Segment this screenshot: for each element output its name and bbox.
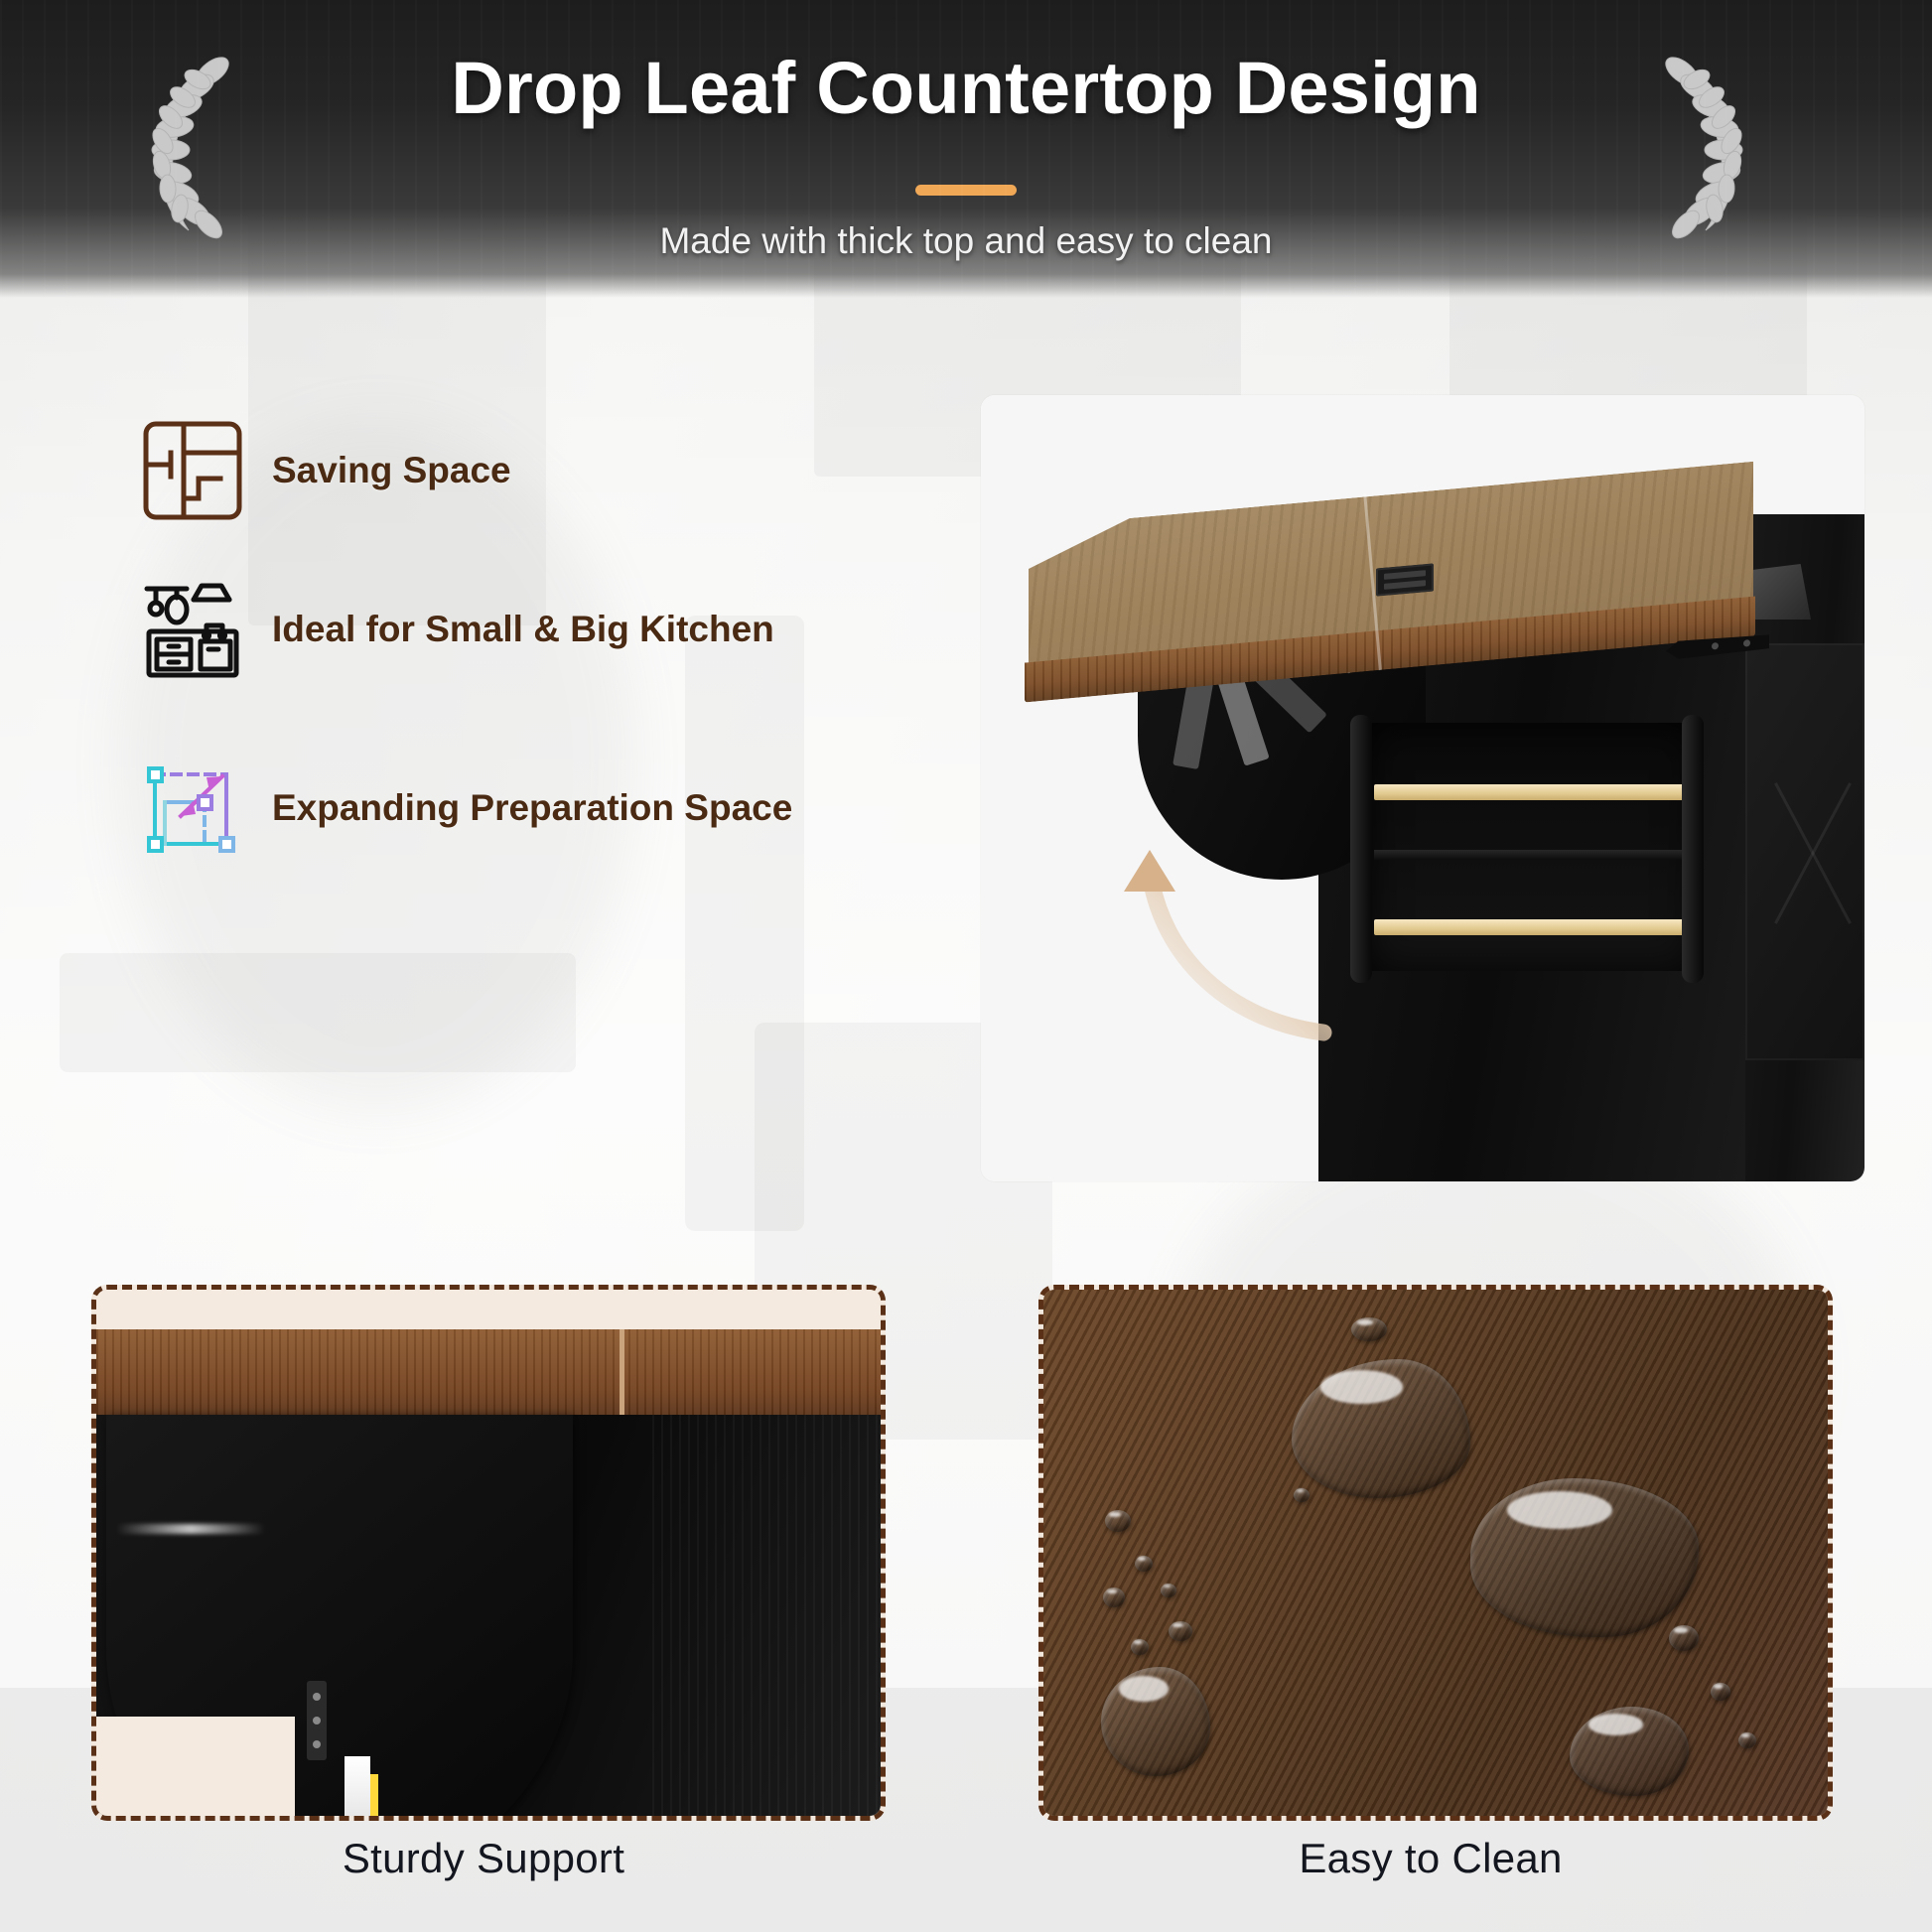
water-droplet-small bbox=[1135, 1556, 1153, 1572]
water-droplet-small bbox=[1105, 1510, 1131, 1532]
water-droplet-small bbox=[1161, 1584, 1176, 1597]
water-droplet-small bbox=[1738, 1732, 1756, 1748]
water-droplet-small bbox=[1169, 1621, 1192, 1641]
panel-caption: Easy to Clean bbox=[1038, 1835, 1823, 1882]
water-droplet-small bbox=[1131, 1639, 1149, 1655]
water-droplet bbox=[1470, 1478, 1699, 1637]
header-band: Drop Leaf Countertop Design Made with th… bbox=[0, 0, 1932, 298]
feature-label: Expanding Preparation Space bbox=[272, 786, 792, 830]
water-droplet-small bbox=[1669, 1625, 1699, 1651]
support-hinge bbox=[307, 1681, 327, 1760]
countertop-edge-closeup bbox=[96, 1329, 881, 1415]
feature-item-ideal-for-kitchen: Ideal for Small & Big Kitchen bbox=[139, 576, 774, 683]
barn-door-x-brace bbox=[1753, 663, 1858, 1040]
fold-motion-arrow bbox=[1080, 723, 1398, 1050]
water-droplet bbox=[1101, 1667, 1210, 1776]
shelf-rail bbox=[1374, 919, 1690, 935]
background-accent-strip bbox=[370, 1774, 378, 1816]
water-droplet-small bbox=[1351, 1317, 1387, 1341]
shelf-post bbox=[1682, 715, 1704, 983]
water-droplet-small bbox=[1294, 1488, 1310, 1502]
water-droplet-small bbox=[1103, 1587, 1125, 1607]
panel-caption: Sturdy Support bbox=[91, 1835, 876, 1882]
shelf-divider bbox=[1374, 850, 1690, 860]
feature-label: Saving Space bbox=[272, 449, 511, 492]
highlight-streak bbox=[116, 1524, 265, 1534]
detail-panel-easy-to-clean bbox=[1038, 1285, 1833, 1821]
water-droplet bbox=[1570, 1707, 1689, 1796]
shelf-rail bbox=[1374, 784, 1690, 800]
feature-item-expanding-space: Expanding Preparation Space bbox=[139, 755, 792, 862]
hero-product-image bbox=[981, 395, 1864, 1181]
wood-grain-texture bbox=[652, 1415, 881, 1816]
water-droplet-small bbox=[1711, 1683, 1730, 1701]
panel-cutout bbox=[91, 1717, 295, 1821]
expand-resize-icon bbox=[139, 755, 246, 862]
power-outlet bbox=[1376, 563, 1434, 596]
page-subtitle: Made with thick top and easy to clean bbox=[0, 220, 1932, 262]
floor-plan-icon bbox=[139, 417, 246, 524]
detail-panel-sturdy-support bbox=[91, 1285, 886, 1821]
infographic-canvas: Drop Leaf Countertop Design Made with th… bbox=[0, 0, 1932, 1932]
background-strip bbox=[345, 1756, 370, 1816]
page-title: Drop Leaf Countertop Design bbox=[0, 46, 1932, 130]
kitchen-counter-hood-icon bbox=[139, 576, 246, 683]
laurel-wreath-icon bbox=[1646, 52, 1765, 245]
leaf-seam bbox=[620, 1329, 624, 1415]
feature-item-saving-space: Saving Space bbox=[139, 417, 511, 524]
feature-label: Ideal for Small & Big Kitchen bbox=[272, 608, 774, 651]
title-accent-bar bbox=[915, 185, 1017, 196]
